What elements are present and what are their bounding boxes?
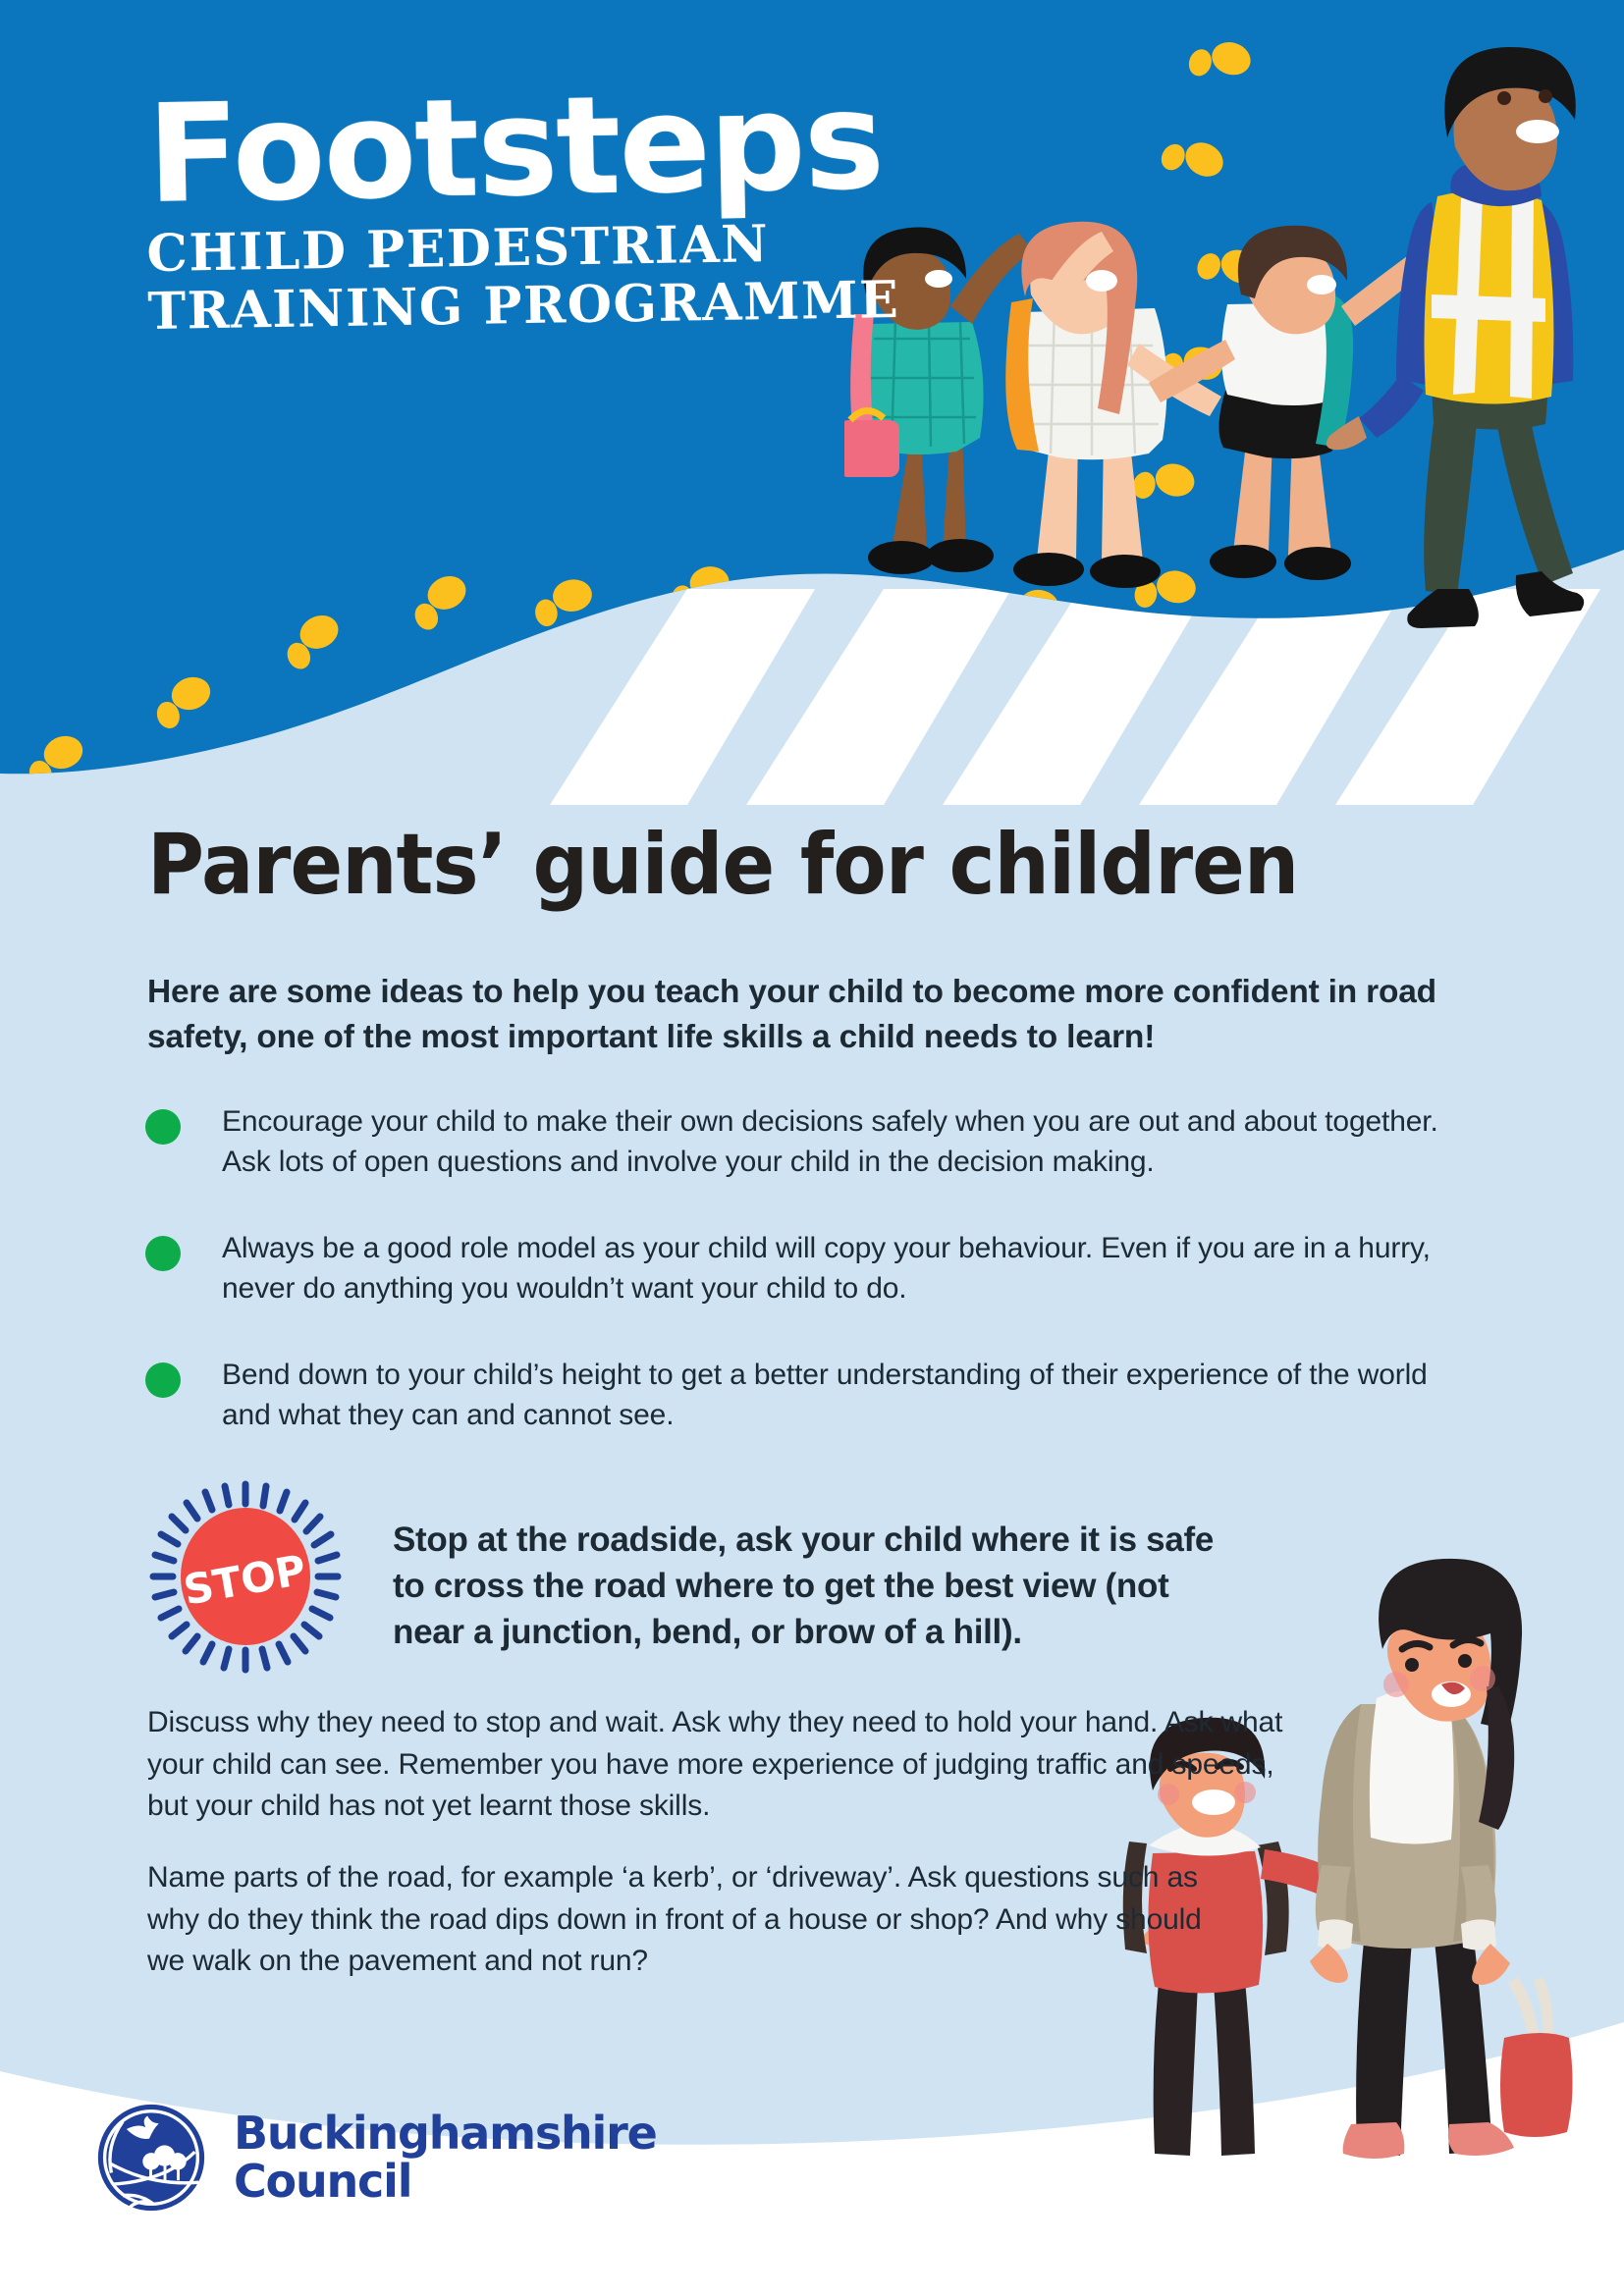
buckinghamshire-swan-logo-icon	[94, 2101, 208, 2215]
stop-callout: STOP Stop at the roadside, ask your chil…	[147, 1472, 1227, 1656]
list-item-text: Encourage your child to make their own d…	[222, 1101, 1481, 1183]
poster-page: Footsteps CHILD PEDESTRIAN TRAINING PROG…	[0, 0, 1624, 2296]
list-item-text: Always be a good role model as your chil…	[222, 1228, 1481, 1309]
brand-block: Footsteps CHILD PEDESTRIAN TRAINING PROG…	[147, 90, 1031, 342]
body-paragraph-1: Discuss why they need to stop and wait. …	[147, 1702, 1306, 1828]
list-item: Always be a good role model as your chil…	[145, 1228, 1481, 1309]
council-logo-line-2: Council	[234, 2158, 657, 2206]
page-title: Parents’ guide for children	[147, 823, 1298, 907]
list-item: Bend down to your child’s height to get …	[145, 1355, 1481, 1436]
intro-paragraph: Here are some ideas to help you teach yo…	[147, 970, 1463, 1059]
council-logo-wordmark: Buckinghamshire Council	[234, 2109, 657, 2206]
bullet-dot-icon	[145, 1362, 181, 1398]
council-logo-line-1: Buckinghamshire	[234, 2109, 657, 2158]
list-item-text: Bend down to your child’s height to get …	[222, 1355, 1481, 1436]
list-item: Encourage your child to make their own d…	[145, 1101, 1481, 1183]
bullet-dot-icon	[145, 1236, 181, 1271]
body-paragraph-2: Name parts of the road, for example ‘a k…	[147, 1857, 1227, 1983]
brand-subtitle-line-2: TRAINING PROGRAMME	[147, 269, 1032, 341]
bullet-dot-icon	[145, 1109, 181, 1145]
tips-list: Encourage your child to make their own d…	[145, 1101, 1481, 1435]
brand-title: Footsteps	[146, 74, 1032, 219]
stop-callout-text: Stop at the roadside, ask your child whe…	[393, 1472, 1227, 1656]
brand-subtitle: CHILD PEDESTRIAN TRAINING PROGRAMME	[146, 211, 1032, 342]
stop-sign-icon: STOP	[147, 1478, 344, 1675]
buckinghamshire-council-logo: Buckinghamshire Council	[94, 2101, 657, 2215]
